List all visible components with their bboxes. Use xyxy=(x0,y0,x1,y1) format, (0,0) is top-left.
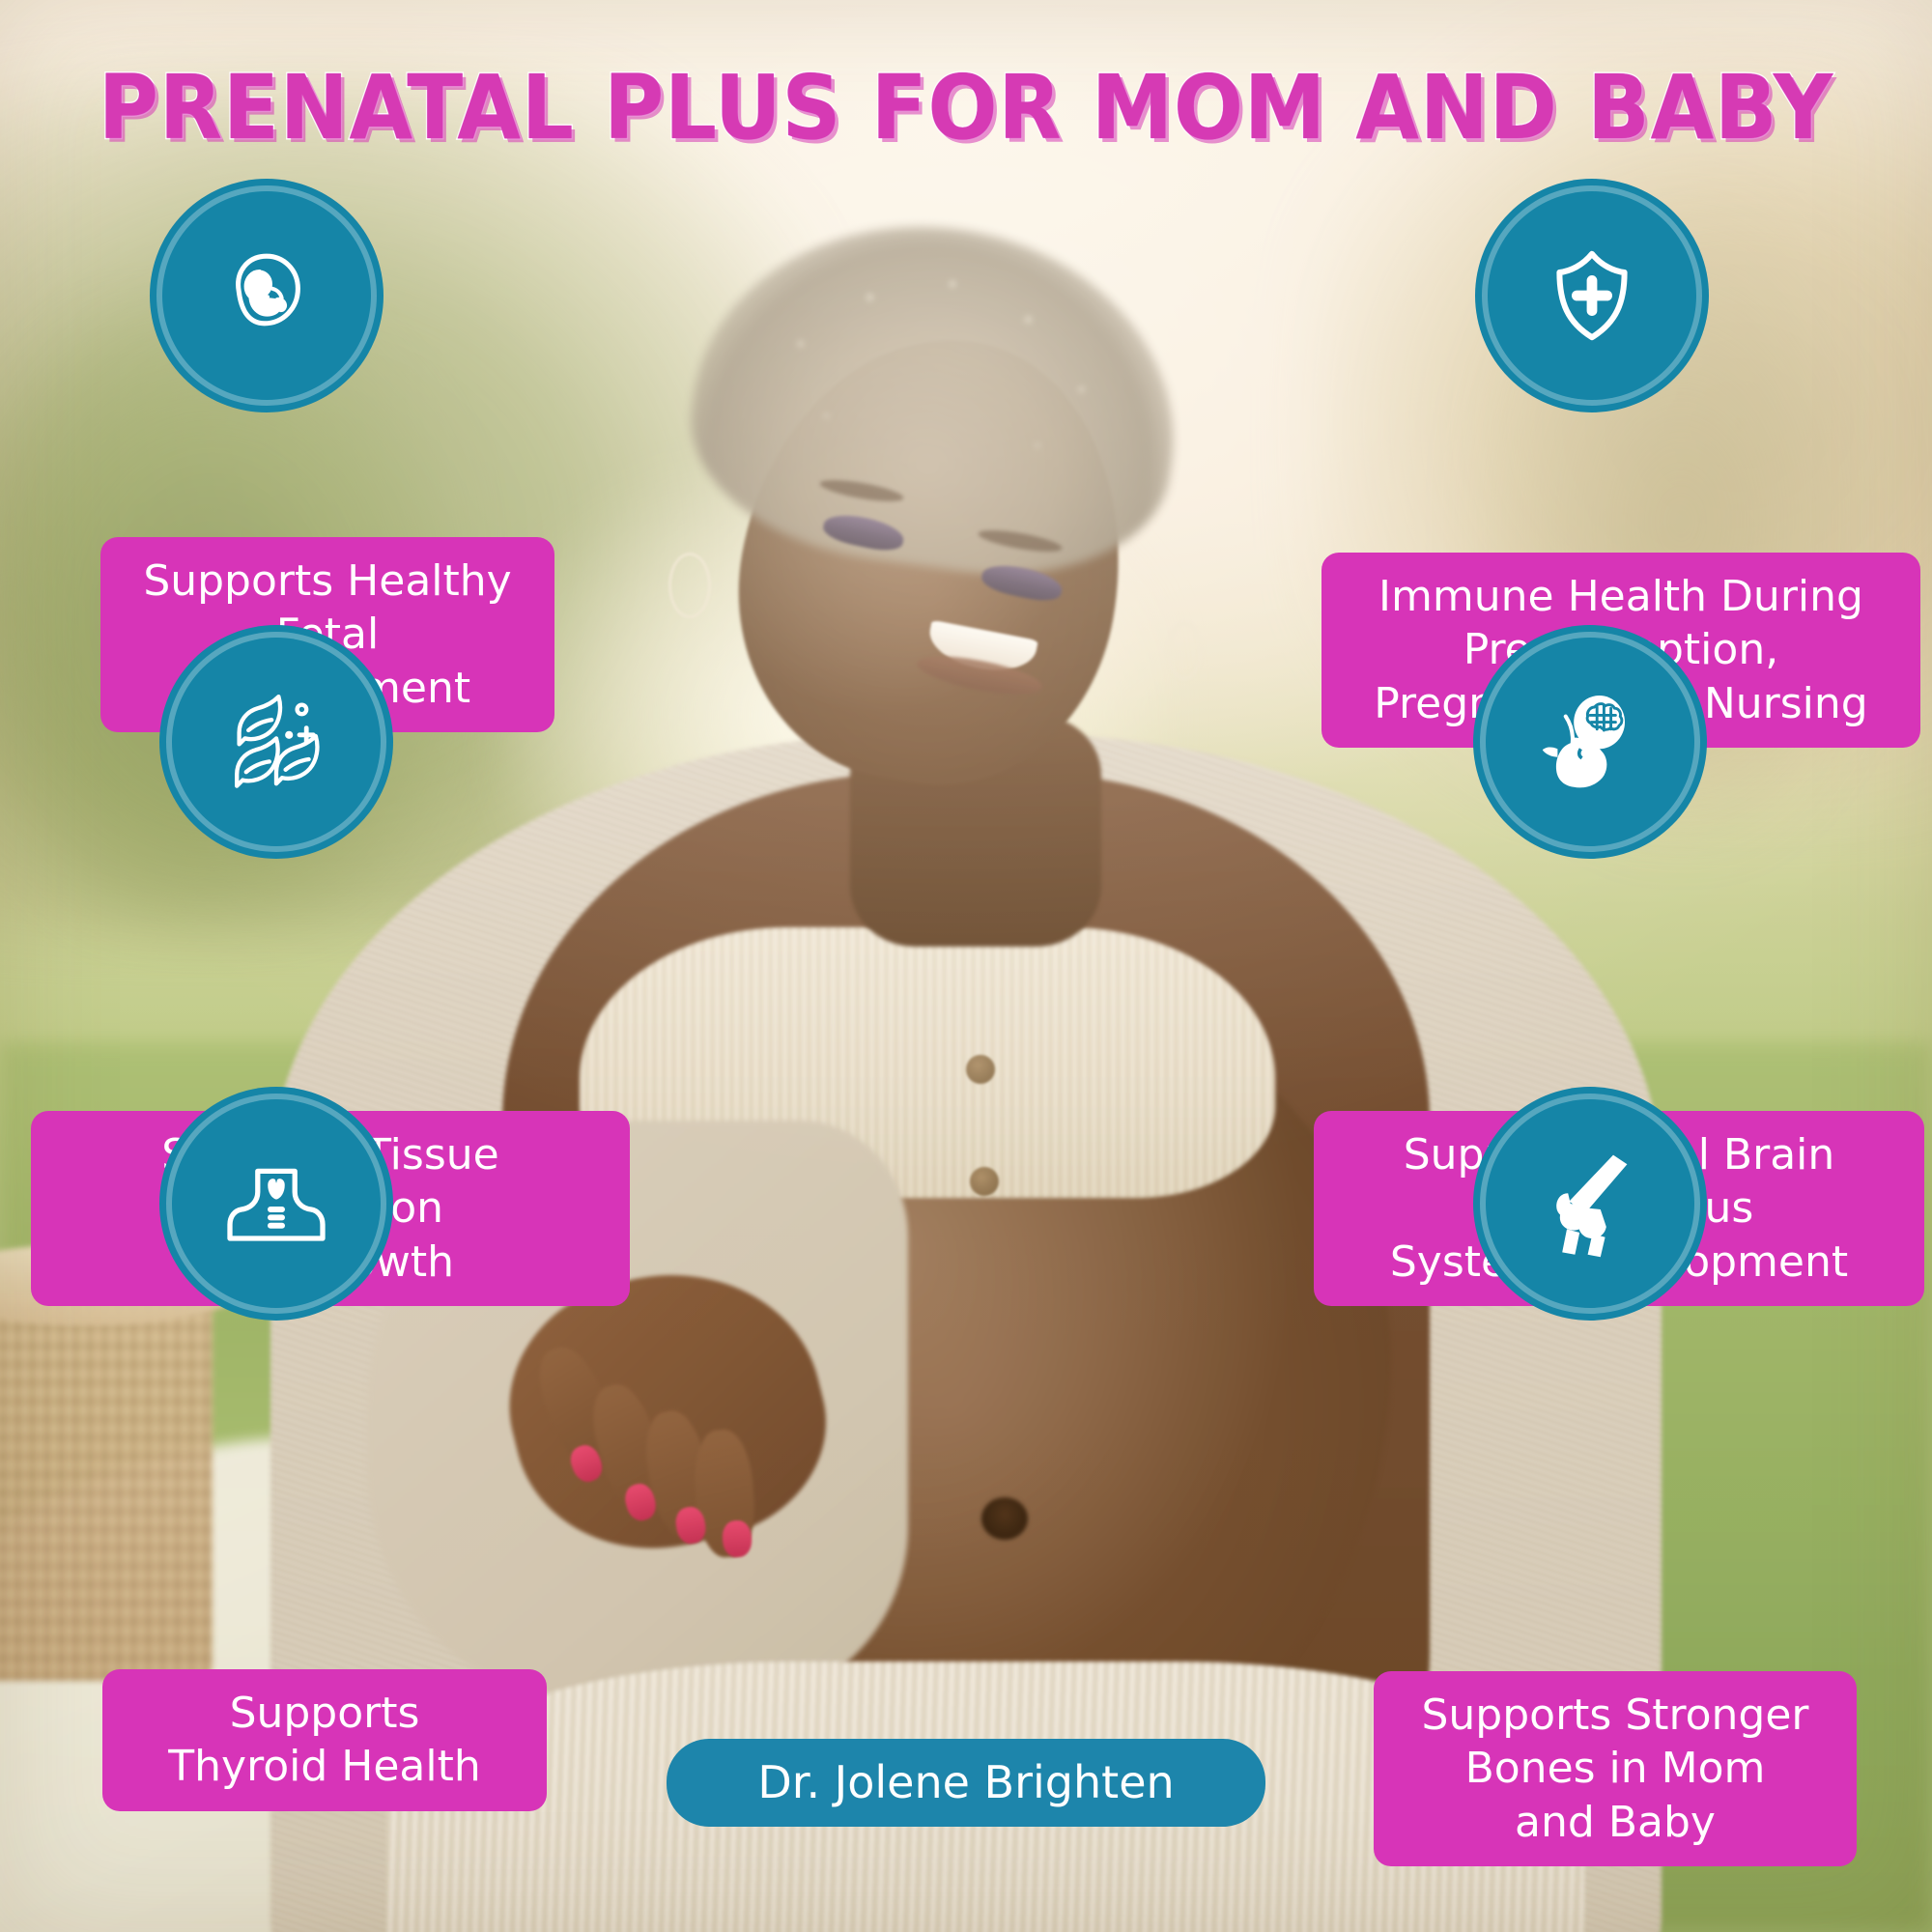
knee-joint-bone-icon xyxy=(1532,1146,1648,1262)
shield-cross-icon xyxy=(1534,238,1650,354)
benefit-icon-badge-thyroid-health[interactable] xyxy=(172,1099,381,1308)
benefit-icon-badge-fetal-brain[interactable] xyxy=(1486,638,1694,846)
page-title: PRENATAL PLUS FOR MOM AND BABY xyxy=(77,64,1855,153)
benefit-label-thyroid-health: Supports Thyroid Health xyxy=(102,1669,547,1811)
benefit-icon-badge-tissue-growth[interactable] xyxy=(172,638,381,846)
benefit-label-stronger-bones: Supports Stronger Bones in Mom and Baby xyxy=(1374,1671,1857,1866)
benefit-icon-badge-fetal-development[interactable] xyxy=(162,191,371,400)
overlay-layer: PRENATAL PLUS FOR MOM AND BABY Supports … xyxy=(0,0,1932,1932)
author-name-badge[interactable]: Dr. Jolene Brighten xyxy=(667,1739,1265,1827)
fetus-brain-icon xyxy=(1532,684,1648,800)
thyroid-gland-icon xyxy=(218,1146,334,1262)
leaves-sparkle-icon xyxy=(218,684,334,800)
fetus-in-womb-icon xyxy=(209,238,325,354)
prenatal-infographic-poster: PRENATAL PLUS FOR MOM AND BABY Supports … xyxy=(0,0,1932,1932)
benefit-icon-badge-stronger-bones[interactable] xyxy=(1486,1099,1694,1308)
benefit-icon-badge-immune-health[interactable] xyxy=(1488,191,1696,400)
